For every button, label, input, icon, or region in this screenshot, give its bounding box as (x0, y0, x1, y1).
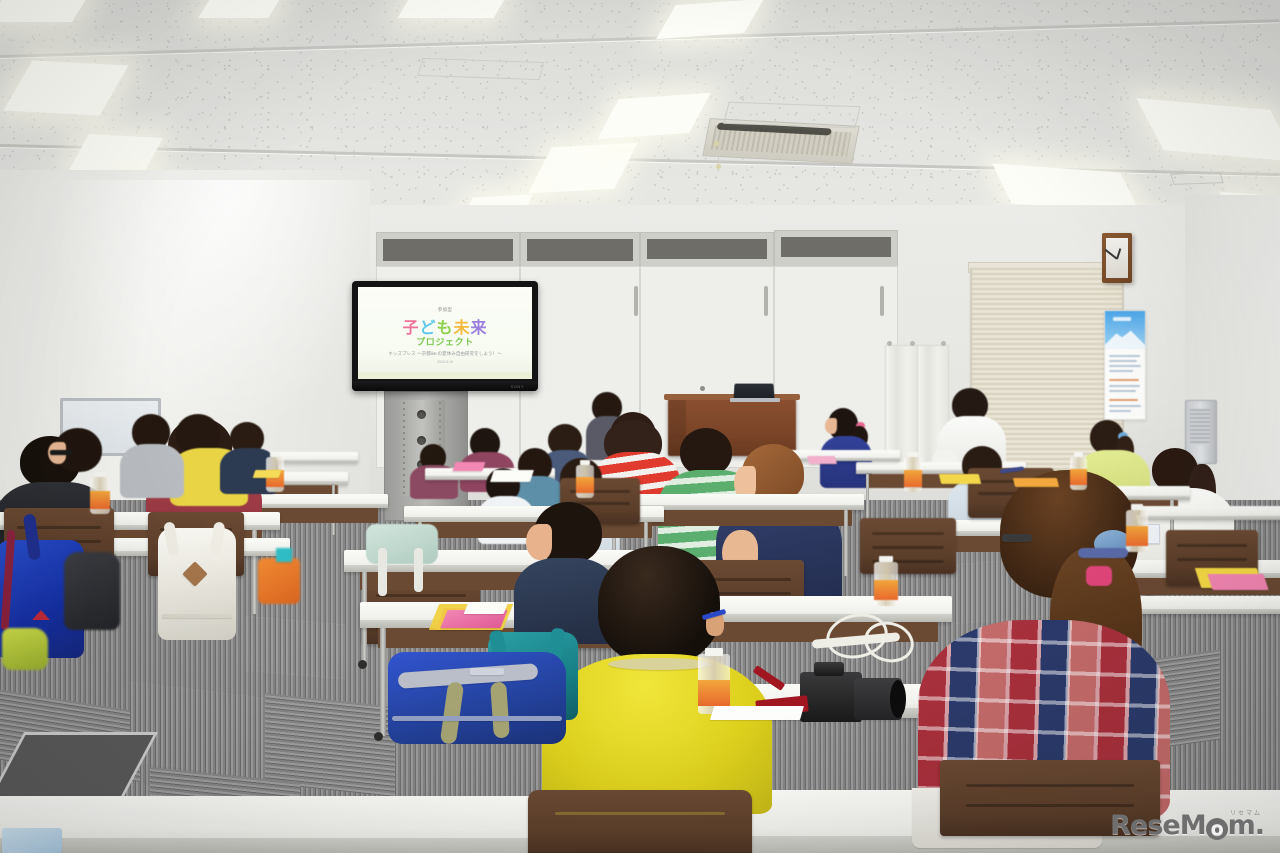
pink-object-floor (1086, 566, 1112, 586)
poster-sky (1105, 311, 1145, 349)
mint-bag-strap (414, 548, 423, 592)
slide-eyebrow: 参加型 (358, 307, 532, 313)
drink-bottle (576, 460, 594, 498)
torso (120, 444, 184, 498)
drink-bottle (904, 452, 922, 492)
desk-edge (1140, 609, 1280, 614)
tv-stand-perforation (403, 402, 405, 494)
slide-date: 2016.8.19 (358, 360, 532, 364)
tv-brand-label: SONY (511, 384, 524, 389)
watermark-part: Rese (1110, 810, 1180, 841)
tv-stand-hole (417, 436, 426, 445)
wall-clock (1102, 233, 1132, 283)
backpack-zip (162, 614, 232, 618)
photo-scene: 参加型 子ども未来 プロジェクト キッズプレス ～京都â€‹の夏休み自由研究をし… (0, 0, 1280, 853)
duffel-zipper (392, 716, 562, 721)
watermark-letter-o: o (1206, 818, 1228, 840)
light-pull-cord (716, 128, 717, 142)
white-paper (490, 470, 534, 482)
poster-mountain (1104, 329, 1146, 349)
orange-bag-floor (258, 558, 300, 604)
mint-green-bag (366, 524, 438, 564)
wall-poster (1104, 310, 1146, 420)
laptop-base (730, 398, 780, 402)
clock-face (1106, 238, 1128, 278)
ceiling-light (198, 0, 282, 18)
face-profile (526, 524, 552, 560)
desk-leg (844, 510, 848, 576)
desk-leg (380, 628, 386, 736)
partition-handle[interactable] (764, 286, 768, 316)
watermark-part: . (1255, 810, 1264, 841)
desk (1140, 596, 1280, 614)
camera-prism (814, 662, 844, 676)
head (598, 546, 720, 664)
desk-edge (0, 838, 550, 853)
unit-grill (1190, 409, 1210, 445)
eyeglasses (1002, 534, 1032, 542)
yellow-paper (253, 470, 282, 478)
screen-knob (941, 341, 946, 346)
drink-bottle (1070, 452, 1087, 490)
desk-edge (790, 458, 900, 461)
orange-paper (1013, 478, 1059, 487)
watermark: ReseMom. (1110, 810, 1264, 841)
desk-caster (374, 732, 383, 741)
desk (1140, 506, 1280, 520)
ceiling-tile-outline (723, 102, 860, 129)
partition-transom (774, 230, 898, 268)
ceiling-tile-outline (1170, 172, 1224, 185)
white-paper (464, 602, 509, 614)
tv-stand-hole (417, 410, 426, 419)
microphone (700, 386, 705, 391)
partition-transom (640, 232, 774, 268)
blue-binder-clip (1078, 548, 1128, 558)
drink-bottle (698, 648, 730, 714)
light-pull-cord (718, 155, 719, 165)
face (825, 418, 837, 434)
pink-paper (453, 462, 486, 471)
chair[interactable] (528, 790, 752, 853)
drink-bottle (1126, 504, 1148, 552)
watermark-part: M (1180, 810, 1206, 841)
blue-duffel-bag (388, 652, 566, 744)
screen-knob (887, 341, 892, 346)
camera-body (800, 672, 862, 722)
desk-caster (358, 660, 367, 669)
poster-title-block (1113, 317, 1131, 321)
eyeglasses (50, 450, 72, 455)
slide-bottom-band (358, 372, 532, 379)
drink-bottle (90, 472, 110, 514)
bag-tag (276, 548, 292, 562)
shoe-left (2, 628, 48, 670)
screen-knob (910, 341, 915, 346)
white-paper-foreground (710, 706, 804, 720)
camera-lens-front (890, 680, 906, 718)
ceiling-light (398, 0, 507, 18)
collar (608, 658, 712, 670)
black-bag-left (64, 552, 120, 630)
partition-transom (376, 232, 520, 268)
tv-display: 参加型 子ども未来 プロジェクト キッズプレス ～京都â€‹の夏休み自由研究をし… (358, 287, 532, 379)
pink-paper (1207, 574, 1268, 590)
partition-handle[interactable] (634, 286, 638, 316)
partition-transom (520, 232, 640, 268)
desk (0, 796, 550, 853)
carpet-tile (245, 616, 345, 680)
watermark-part-m: m (1228, 810, 1255, 841)
mint-bag-strap (378, 548, 387, 596)
slide-subtitle: プロジェクト (358, 335, 532, 348)
head (680, 428, 732, 476)
pink-paper (807, 456, 837, 464)
desk-edge (1140, 516, 1280, 520)
duffel-logo (470, 668, 504, 675)
notebook-foreground (2, 828, 62, 853)
carpet-tile (130, 681, 270, 778)
yellow-paper (939, 474, 981, 484)
partition-handle[interactable] (880, 286, 884, 316)
drink-bottle (874, 556, 898, 606)
presentation-screen: 参加型 子ども未来 プロジェクト キッズプレス ～京都â€‹の夏休み自由研究をし… (352, 281, 538, 391)
slide-caption: キッズプレス ～京都â€‹の夏休み自由研究をしよう！～ (358, 351, 532, 357)
